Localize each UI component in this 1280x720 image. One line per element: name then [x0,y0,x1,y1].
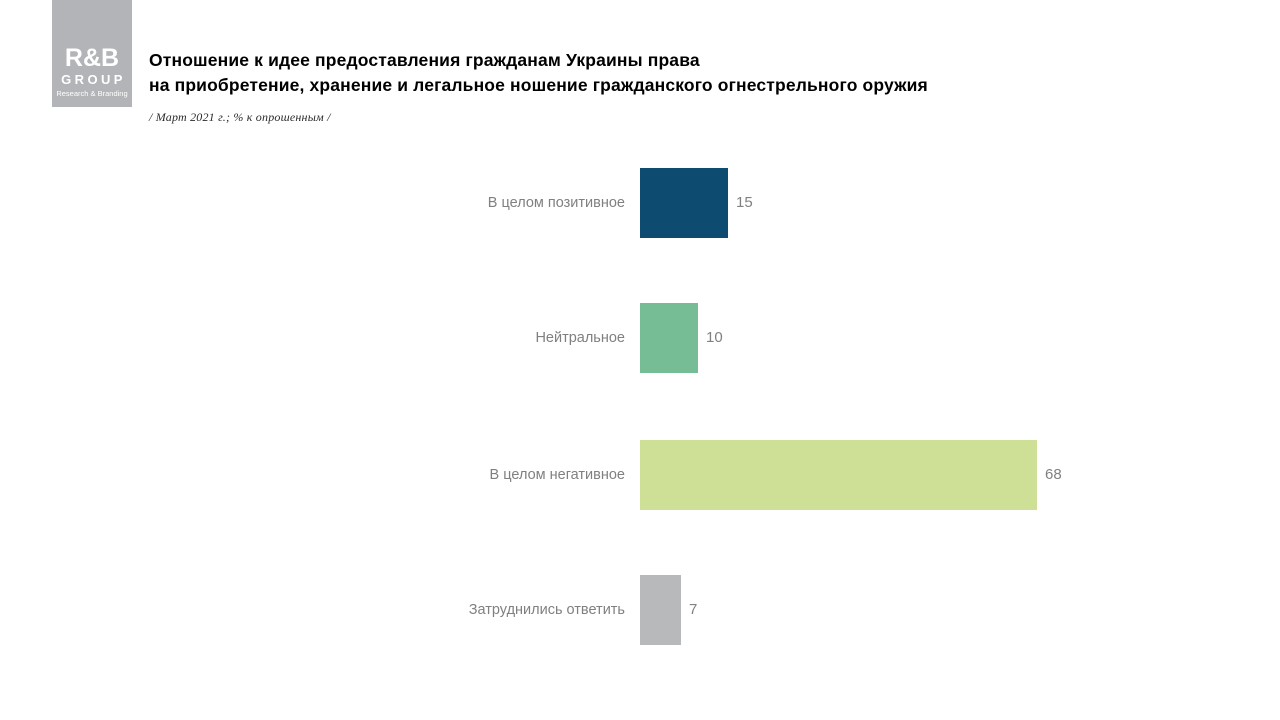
logo-text-stack: R&B GROUP Research & Branding [52,46,132,99]
bar-row: В целом позитивное15 [0,168,1280,238]
bar-segment[interactable] [640,575,681,645]
chart-title-line-2: на приобретение, хранение и легальное но… [149,73,1249,98]
bar-category-label: В целом негативное [490,440,625,510]
bar-chart: В целом позитивное15Нейтральное10В целом… [0,150,1280,670]
chart-title: Отношение к идее предоставления граждана… [149,48,1249,98]
bar-value-label: 7 [689,575,697,645]
bar-category-label: Затруднились ответить [469,575,625,645]
bar-segment[interactable] [640,440,1037,510]
rb-group-logo: R&B GROUP Research & Branding [52,0,132,107]
bar-value-label: 10 [706,303,723,373]
bar-category-label: Нейтральное [535,303,625,373]
bar-row: В целом негативное68 [0,440,1280,510]
bar-value-label: 68 [1045,440,1062,510]
logo-name: R&B [52,46,132,71]
bar-row: Нейтральное10 [0,303,1280,373]
logo-tagline: Research & Branding [52,88,132,99]
chart-title-line-1: Отношение к идее предоставления граждана… [149,48,1249,73]
bar-value-label: 15 [736,168,753,238]
bar-segment[interactable] [640,303,698,373]
bar-row: Затруднились ответить7 [0,575,1280,645]
chart-subtitle: / Март 2021 г.; % к опрошенным / [149,110,331,125]
bar-category-label: В целом позитивное [488,168,625,238]
logo-group-word: GROUP [52,72,132,87]
bar-segment[interactable] [640,168,728,238]
